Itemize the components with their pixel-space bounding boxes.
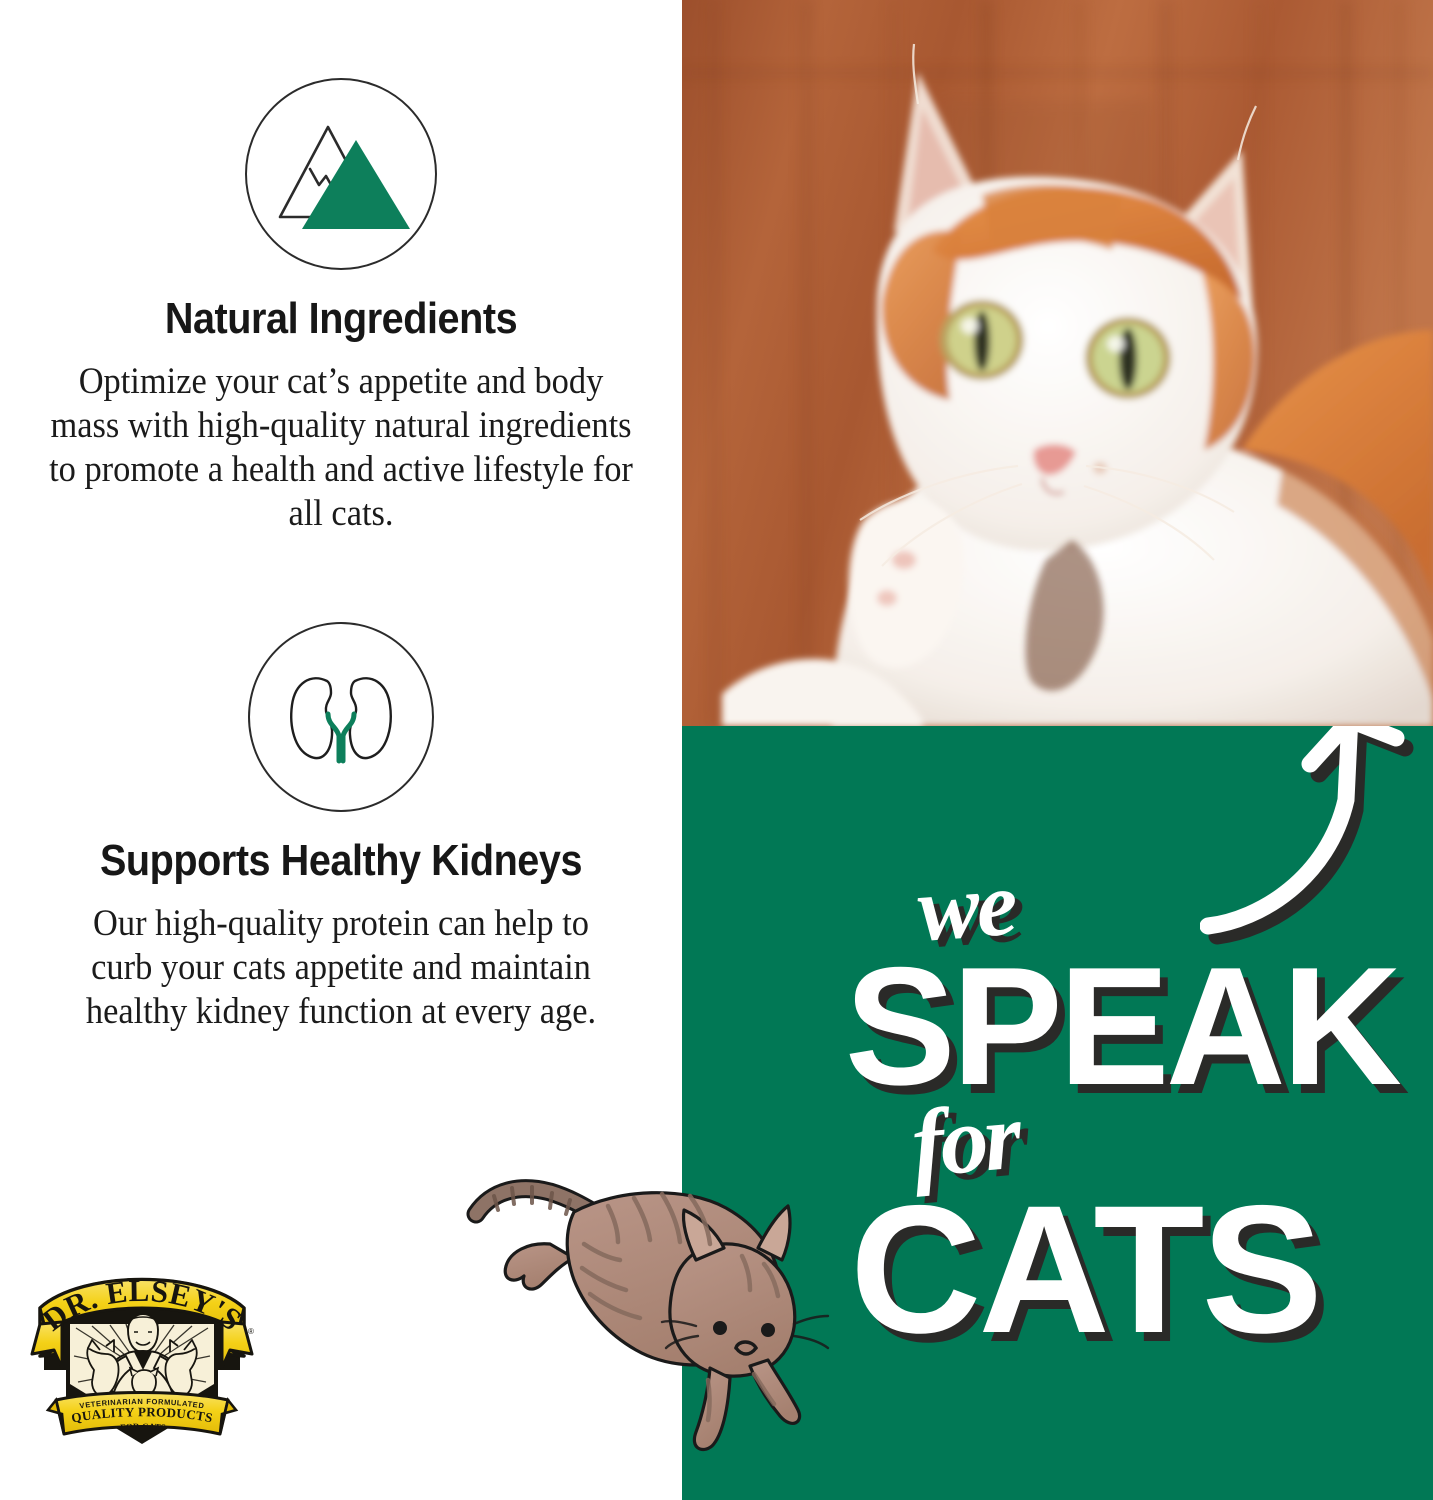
feature-supports-healthy-kidneys: Supports Healthy Kidneys Our high-qualit… (0, 622, 682, 1034)
feature-title: Natural Ingredients (34, 294, 648, 344)
slogan-speak: SPEAK (845, 942, 1398, 1110)
leaping-tabby-cat-illustration (458, 1160, 858, 1460)
mountain-icon (245, 78, 437, 270)
kidney-icon (248, 622, 434, 812)
feature-natural-ingredients: Natural Ingredients Optimize your cat’s … (0, 78, 682, 536)
dr-elseys-logo: DR. ELSEY'S ® (22, 1258, 262, 1450)
feature-title: Supports Healthy Kidneys (34, 836, 648, 886)
svg-text:FOR CATS: FOR CATS (120, 1421, 166, 1432)
product-feature-infographic: Natural Ingredients Optimize your cat’s … (0, 0, 1433, 1500)
registered-mark: ® (248, 1327, 254, 1336)
feature-body: Optimize your cat’s appetite and body ma… (24, 360, 658, 536)
feature-body: Our high-quality protein can help to cur… (24, 902, 658, 1034)
logo-tagline-3: FOR CATS (120, 1421, 166, 1432)
slogan-cats: CATS (850, 1178, 1320, 1360)
ginger-white-cat-photo (682, 0, 1433, 726)
